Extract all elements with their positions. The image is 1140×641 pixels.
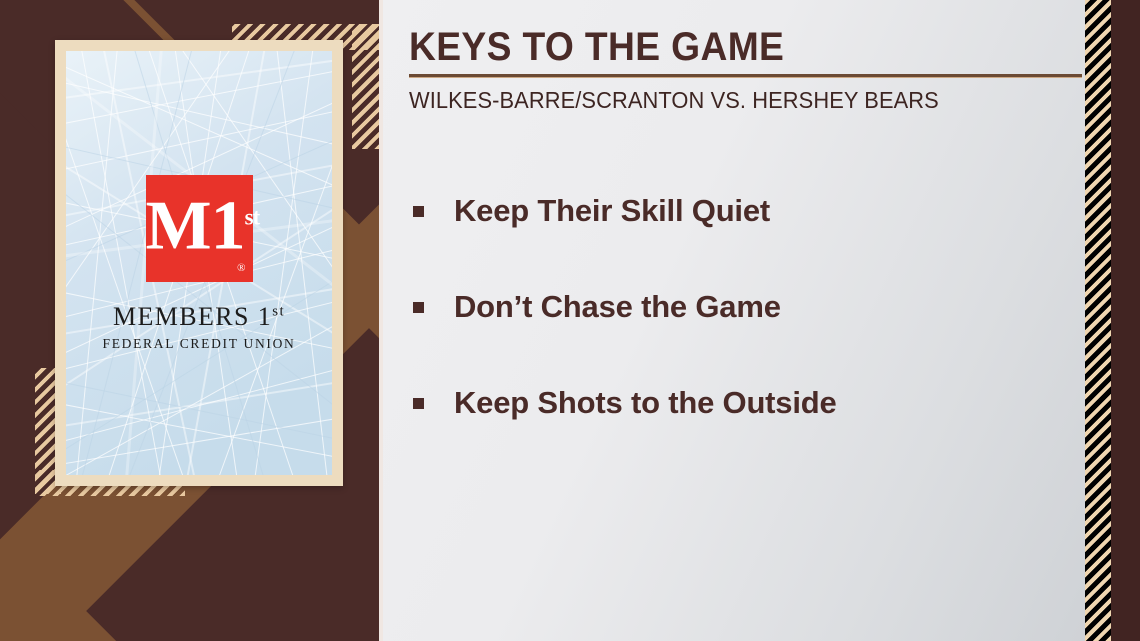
broadcast-graphic: M1st ® MEMBERS 1st FEDERAL CREDIT UNION … xyxy=(0,0,1140,641)
list-item: Keep Their Skill Quiet xyxy=(413,163,1063,259)
sponsor-wordmark-subtitle: FEDERAL CREDIT UNION xyxy=(103,336,296,352)
sponsor-wordmark-text: MEMBERS 1 xyxy=(113,302,272,331)
hatch-decor-right-edge xyxy=(1085,0,1111,641)
list-item-label: Keep Their Skill Quiet xyxy=(454,193,770,229)
list-item: Don’t Chase the Game xyxy=(413,259,1063,355)
list-item: Keep Shots to the Outside xyxy=(413,355,1063,451)
bullet-square-icon xyxy=(413,206,424,217)
logo-mark-letters: M1 xyxy=(146,188,245,265)
registered-trademark-icon: ® xyxy=(237,262,245,274)
page-title: KEYS TO THE GAME xyxy=(409,27,784,67)
logo-mark-text: M1st xyxy=(146,192,253,262)
page-subtitle: WILKES-BARRE/SCRANTON VS. HERSHEY BEARS xyxy=(409,87,939,114)
logo-mark-superscript: st xyxy=(245,204,260,229)
sponsor-wordmark-superscript: st xyxy=(272,303,285,319)
sponsor-wordmark: MEMBERS 1st xyxy=(113,304,285,330)
bullet-square-icon xyxy=(413,302,424,313)
sponsor-logo-group: M1st ® MEMBERS 1st FEDERAL CREDIT UNION xyxy=(66,51,332,475)
main-content-panel: KEYS TO THE GAME WILKES-BARRE/SCRANTON V… xyxy=(379,0,1085,641)
hatch-decor-top-right-vertical xyxy=(352,24,379,149)
bullet-square-icon xyxy=(413,398,424,409)
keys-list: Keep Their Skill Quiet Don’t Chase the G… xyxy=(413,163,1063,451)
list-item-label: Keep Shots to the Outside xyxy=(454,385,837,421)
list-item-label: Don’t Chase the Game xyxy=(454,289,781,325)
sponsor-panel: M1st ® MEMBERS 1st FEDERAL CREDIT UNION xyxy=(0,0,379,641)
right-edge-bar xyxy=(1111,0,1140,641)
members-first-logo-mark: M1st ® xyxy=(146,175,253,282)
title-divider xyxy=(409,74,1082,78)
ice-texture-background: M1st ® MEMBERS 1st FEDERAL CREDIT UNION xyxy=(66,51,332,475)
sponsor-card: M1st ® MEMBERS 1st FEDERAL CREDIT UNION xyxy=(55,40,343,486)
